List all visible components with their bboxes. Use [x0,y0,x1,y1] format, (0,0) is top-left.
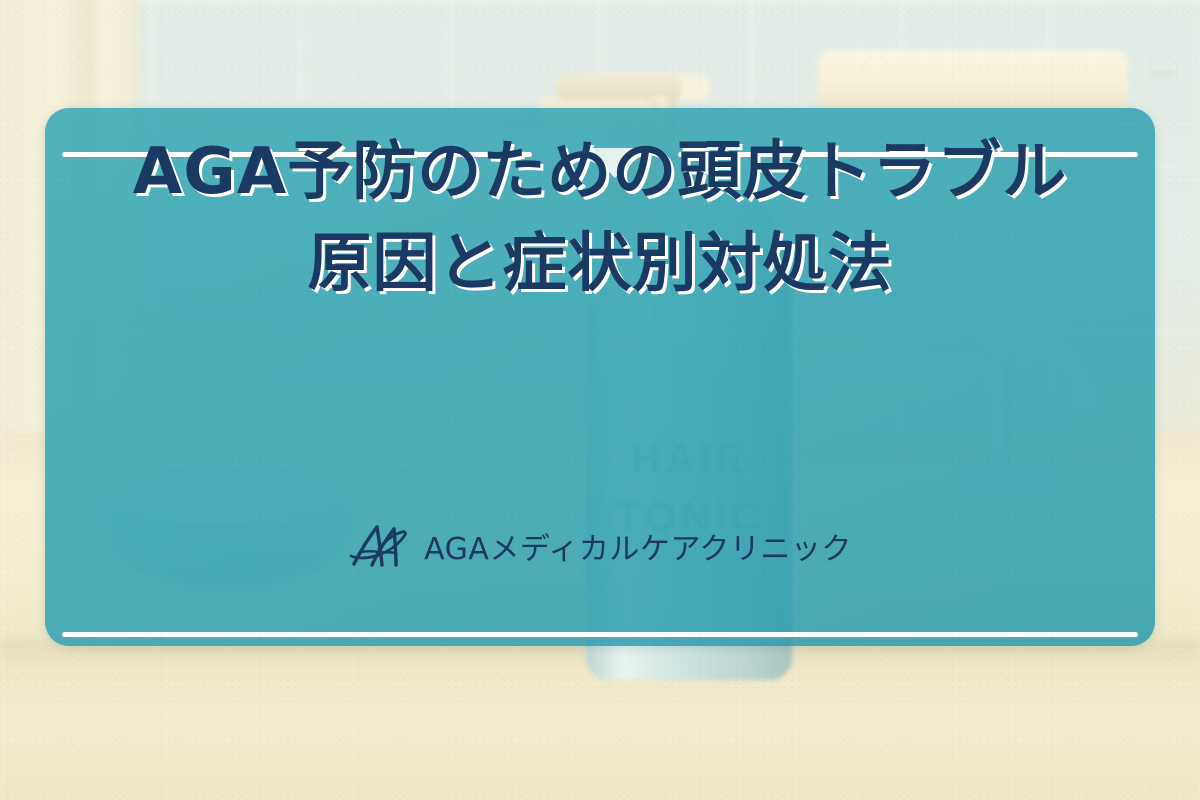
page-title-line-2: 原因と症状別対処法 [0,218,1200,310]
brand-name: AGAメディカルケアクリニック [424,524,852,568]
brand-lockup: AGAメディカルケアクリニック [0,522,1200,570]
eyecatch-canvas: HAIR TONIC AGA予防のための頭皮トラブル 原因と症状別対処法 [0,0,1200,800]
aga-monogram-icon [348,522,410,570]
divider-bottom [62,632,1138,637]
page-title: AGA予防のための頭皮トラブル 原因と症状別対処法 [0,126,1200,310]
page-title-line-1: AGA予防のための頭皮トラブル [0,126,1200,218]
